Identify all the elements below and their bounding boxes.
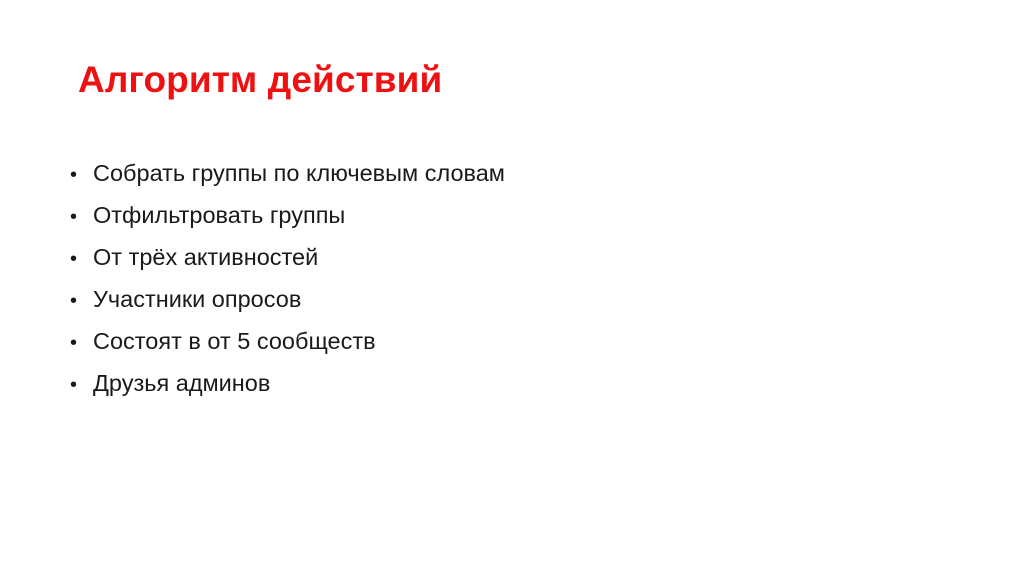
list-item-label: Участники опросов [93,278,301,320]
list-item-label: Отфильтровать группы [93,194,345,236]
presentation-slide: Алгоритм действий • Собрать группы по кл… [0,0,1024,574]
bullet-point-icon: • [70,280,93,322]
list-item: • Состоят в от 5 сообществ [70,320,890,362]
bullet-point-icon: • [70,364,93,406]
list-item-label: Друзья админов [93,362,270,404]
bullet-point-icon: • [70,238,93,280]
bullet-point-icon: • [70,322,93,364]
list-item: • Отфильтровать группы [70,194,890,236]
list-item-label: Собрать группы по ключевым словам [93,152,505,194]
list-item: • Собрать группы по ключевым словам [70,152,890,194]
list-item: • От трёх активностей [70,236,890,278]
list-item: • Участники опросов [70,278,890,320]
bullet-list: • Собрать группы по ключевым словам • От… [70,152,890,404]
list-item: • Друзья админов [70,362,890,404]
bullet-point-icon: • [70,154,93,196]
list-item-label: От трёх активностей [93,236,318,278]
bullet-point-icon: • [70,196,93,238]
list-item-label: Состоят в от 5 сообществ [93,320,376,362]
slide-title: Алгоритм действий [78,58,442,102]
